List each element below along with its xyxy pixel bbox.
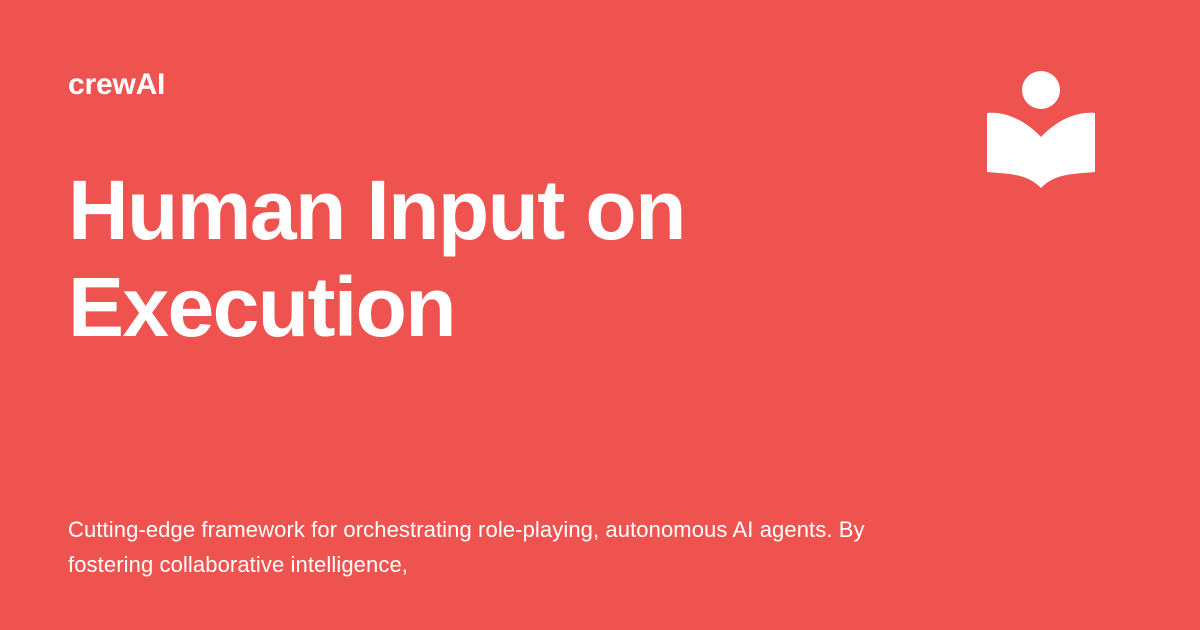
- brand-logo[interactable]: crewAI: [68, 70, 165, 100]
- brand-name-label: crewAI: [68, 70, 165, 100]
- page-title: Human Input on Execution: [68, 162, 928, 357]
- page-description: Cutting-edge framework for orchestrating…: [68, 512, 868, 582]
- social-preview-card: crewAI Human Input on Execution Cutting-…: [0, 0, 1200, 630]
- open-book-reader-icon: [987, 66, 1097, 192]
